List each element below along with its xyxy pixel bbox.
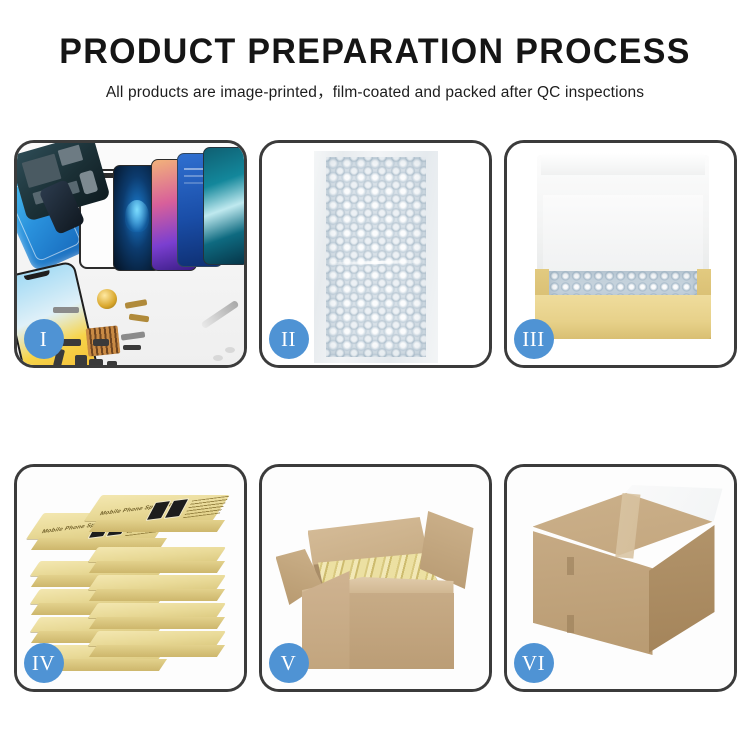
- kraft-box-icon: [93, 631, 221, 646]
- step-panel-2[interactable]: II: [259, 140, 492, 368]
- kraft-box-icon: [93, 603, 221, 618]
- step-panel-4[interactable]: Mobile Phone Spare Parts Mobile Phone Sp…: [14, 464, 247, 692]
- teal-wave-phone-icon: [203, 147, 244, 265]
- kraft-box-icon: [93, 575, 221, 590]
- step-number-badge: II: [269, 319, 309, 359]
- gold-speaker-part-icon: [97, 289, 117, 309]
- step-panel-3[interactable]: III: [504, 140, 737, 368]
- spare-part-icon: [75, 355, 87, 365]
- carton-seam-icon: [567, 557, 574, 575]
- process-steps-grid: I II III: [0, 140, 750, 700]
- step-2-illustration: II: [262, 143, 489, 365]
- step-number-badge: I: [24, 319, 64, 359]
- box-front-panel-icon: [535, 295, 711, 339]
- page-subtitle: All products are image-printed，film-coat…: [0, 80, 750, 102]
- step-4-illustration: Mobile Phone Spare Parts Mobile Phone Sp…: [17, 467, 244, 689]
- step-1-illustration: I: [17, 143, 244, 365]
- page-header: PRODUCT PREPARATION PROCESS All products…: [0, 0, 750, 102]
- step-6-illustration: VI: [507, 467, 734, 689]
- step-5-illustration: V: [262, 467, 489, 689]
- carton-seam-icon: [567, 615, 574, 633]
- step-panel-1[interactable]: I: [14, 140, 247, 368]
- step-number-badge: III: [514, 319, 554, 359]
- spare-part-icon: [53, 307, 79, 313]
- screw-icon: [213, 355, 223, 361]
- spare-part-icon: [93, 339, 109, 346]
- step-number-badge: IV: [24, 643, 64, 683]
- bubble-wrap-icon: [326, 157, 426, 357]
- page-title: PRODUCT PREPARATION PROCESS: [11, 34, 739, 71]
- foam-liner-icon: [543, 195, 703, 273]
- step-panel-6[interactable]: VI: [504, 464, 737, 692]
- spare-part-icon: [61, 339, 81, 346]
- spare-part-icon: [89, 359, 103, 365]
- step-number-badge: VI: [514, 643, 554, 683]
- step-3-illustration: III: [507, 143, 734, 365]
- kraft-box-icon: [93, 547, 221, 562]
- box-lid-top-edge-icon: [541, 153, 705, 175]
- step-number-badge: V: [269, 643, 309, 683]
- spare-part-icon: [123, 345, 141, 350]
- spare-part-icon: [107, 361, 117, 365]
- kraft-box-printed-icon: Mobile Phone Spare Parts: [93, 495, 221, 521]
- step-panel-5[interactable]: V: [259, 464, 492, 692]
- screw-icon: [225, 347, 235, 353]
